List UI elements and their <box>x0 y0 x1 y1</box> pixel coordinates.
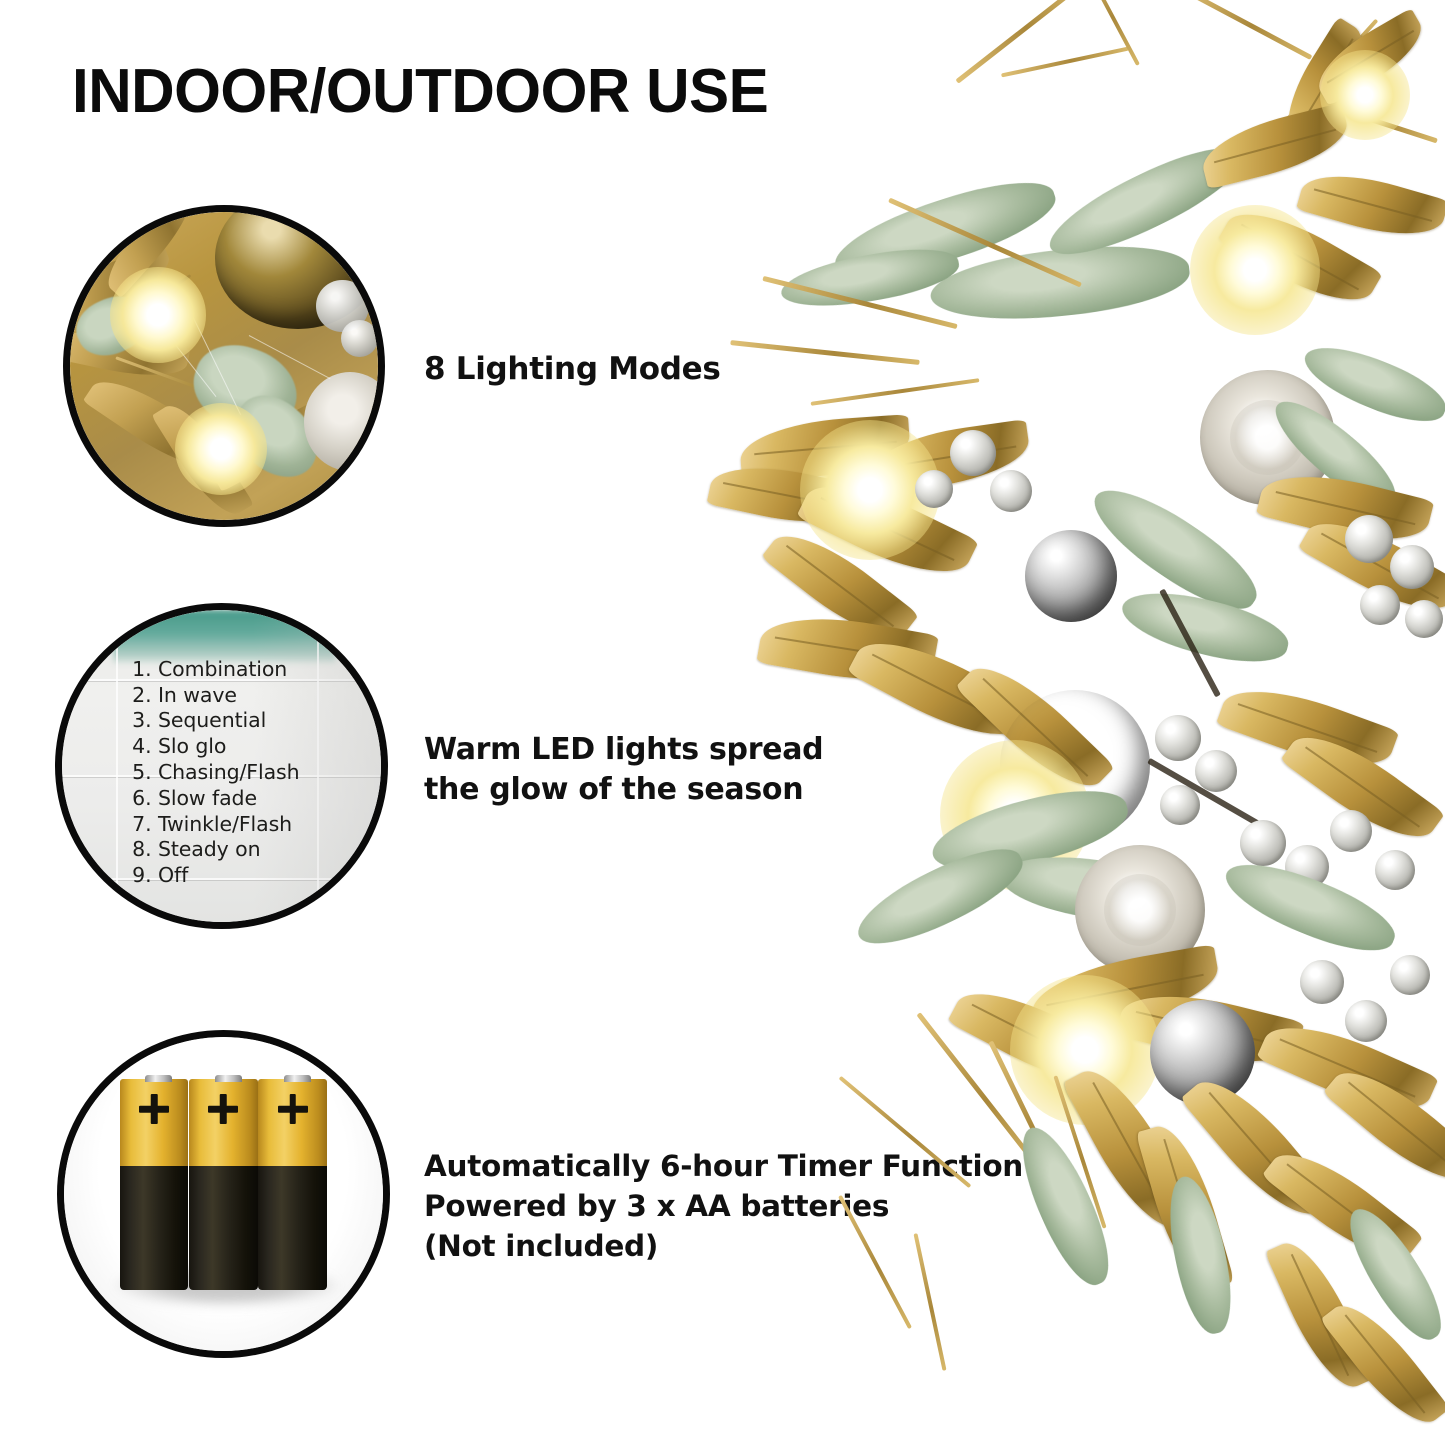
feature-circle-mode-list: 1. Combination 2. In wave 3. Sequential … <box>55 603 388 929</box>
silver-glitter-berry <box>950 430 996 476</box>
mode-item: 6. Slow fade <box>132 786 381 812</box>
battery-positive-end <box>120 1079 189 1165</box>
battery-body: BATTERY AA <box>189 1166 258 1290</box>
mode-item: 3. Sequential <box>132 708 381 734</box>
feature-circle-led-closeup <box>63 205 385 527</box>
battery-positive-end <box>189 1079 258 1165</box>
caption-line: 8 Lighting Modes <box>424 349 721 389</box>
gold-sprig <box>730 340 919 365</box>
caption-lighting-modes: 8 Lighting Modes <box>424 349 721 389</box>
mode-item: 1. Combination <box>132 657 381 683</box>
mode-list-photo: 1. Combination 2. In wave 3. Sequential … <box>62 610 381 922</box>
gold-sprig <box>913 1233 946 1371</box>
plus-terminal-icon <box>139 1094 169 1124</box>
frosted-fir-sprig <box>1159 1172 1241 1339</box>
mode-item: 9. Off <box>132 863 381 889</box>
silver-glitter-berry <box>1195 750 1237 792</box>
battery-cap <box>284 1075 311 1083</box>
battery-cap <box>145 1075 172 1083</box>
aa-batteries-photo: BATTERY AA BATTERY AA BATTERY AA <box>64 1037 383 1351</box>
infographic-page: INDOOR/OUTDOOR USE <box>0 0 1445 1445</box>
product-photo-wreath <box>700 0 1445 1445</box>
silver-glitter-berry <box>1345 515 1393 563</box>
silver-glitter-berry <box>1300 960 1344 1004</box>
mode-item: 5. Chasing/Flash <box>132 760 381 786</box>
feature-circle-batteries: BATTERY AA BATTERY AA BATTERY AA <box>57 1030 390 1358</box>
silver-glitter-berry <box>1405 600 1443 638</box>
battery-cap <box>215 1075 242 1083</box>
silver-glitter-berry <box>1160 785 1200 825</box>
silver-glitter-berry <box>990 470 1032 512</box>
led-closeup-photo <box>70 212 378 520</box>
gold-sprig <box>1001 47 1129 78</box>
gold-sprig <box>1178 0 1313 60</box>
battery-positive-end <box>258 1079 327 1165</box>
silver-glitter-berry <box>1390 545 1434 589</box>
plus-terminal-icon <box>208 1094 238 1124</box>
lighting-mode-list: 1. Combination 2. In wave 3. Sequential … <box>132 657 381 889</box>
silver-glitter-berry <box>341 320 378 357</box>
aa-battery: BATTERY AA <box>258 1079 327 1289</box>
battery-body: BATTERY AA <box>258 1166 327 1290</box>
silver-glitter-berry <box>1240 820 1286 866</box>
silver-glitter-berry <box>1360 585 1400 625</box>
silver-glitter-berry <box>915 470 953 508</box>
gold-sprig <box>811 378 980 406</box>
battery-body: BATTERY AA <box>120 1166 189 1290</box>
silver-glitter-berry <box>1390 955 1430 995</box>
mode-item: 8. Steady on <box>132 837 381 863</box>
silver-glitter-berry <box>1375 850 1415 890</box>
aa-battery: BATTERY AA <box>120 1079 189 1289</box>
plus-terminal-icon <box>278 1094 308 1124</box>
silver-glitter-berry <box>1345 1000 1387 1042</box>
gold-sprig <box>839 1076 972 1188</box>
plastic-seam <box>116 610 118 922</box>
silver-glitter-berry <box>1155 715 1201 761</box>
mode-item: 2. In wave <box>132 683 381 709</box>
silver-glitter-berry <box>1330 810 1372 852</box>
silver-ornament-ball <box>1025 530 1117 622</box>
page-title: INDOOR/OUTDOOR USE <box>72 56 768 127</box>
mode-item: 4. Slo glo <box>132 734 381 760</box>
aa-battery: BATTERY AA <box>189 1079 258 1289</box>
gold-sprig <box>838 1195 912 1329</box>
mode-item: 7. Twinkle/Flash <box>132 812 381 838</box>
